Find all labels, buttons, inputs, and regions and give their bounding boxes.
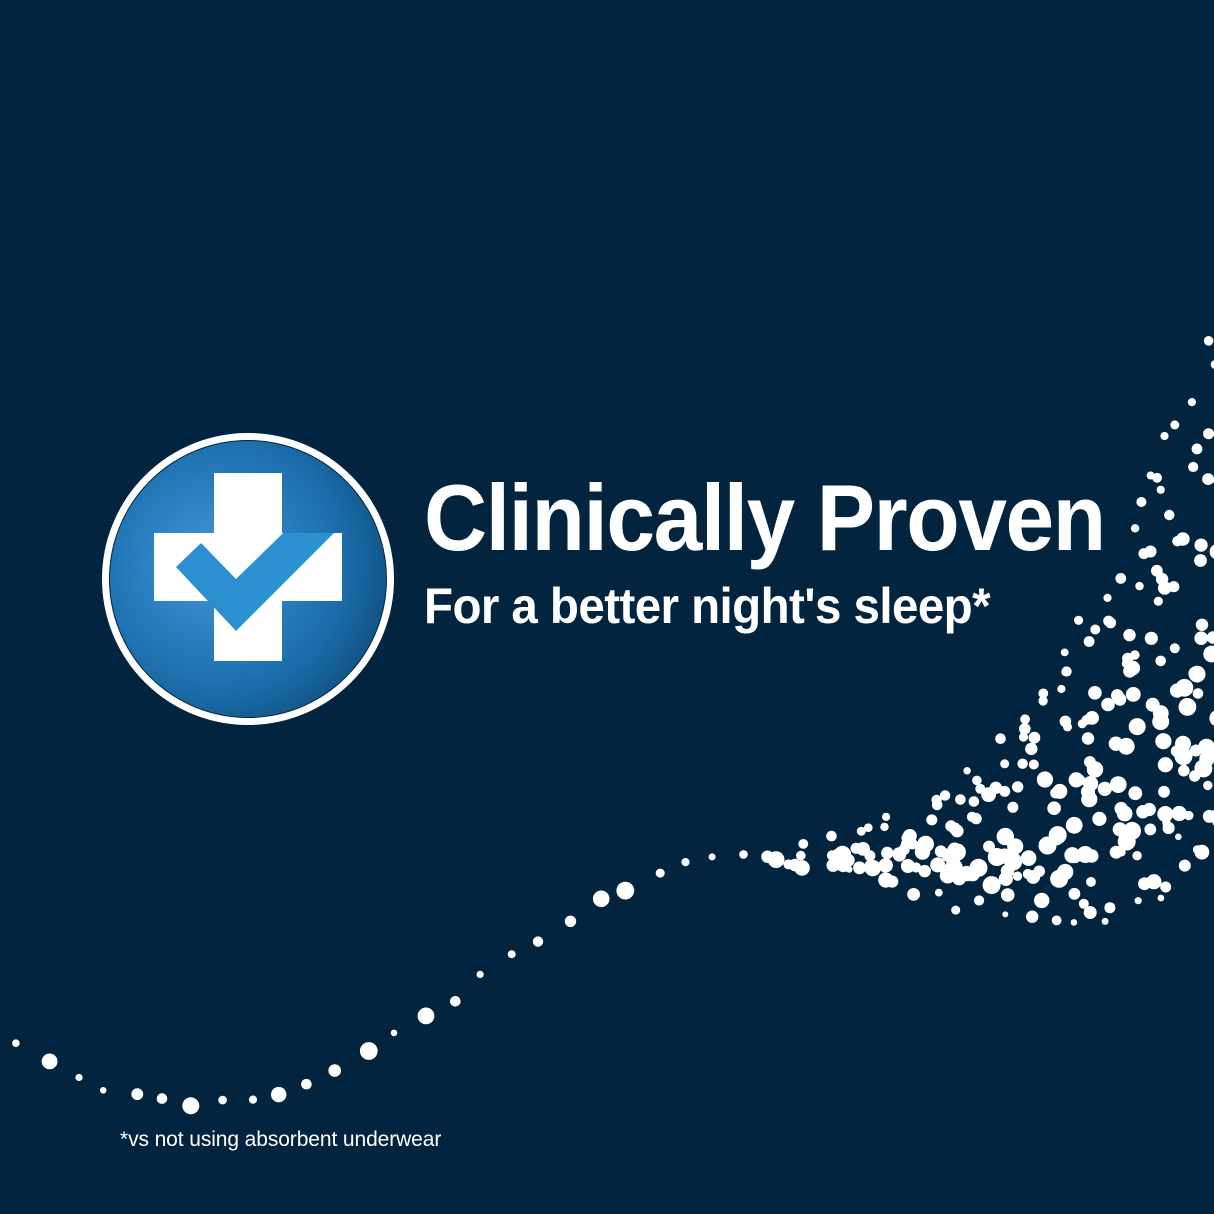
headline-group: Clinically Proven For a better night's s… (424, 472, 1184, 633)
promo-graphic-canvas: Clinically Proven For a better night's s… (0, 0, 1214, 1214)
subtitle: For a better night's sleep* (424, 564, 1146, 633)
page-title: Clinically Proven (424, 472, 1131, 564)
footnote-disclaimer: *vs not using absorbent underwear (120, 1128, 441, 1152)
clinically-proven-badge (102, 433, 394, 725)
